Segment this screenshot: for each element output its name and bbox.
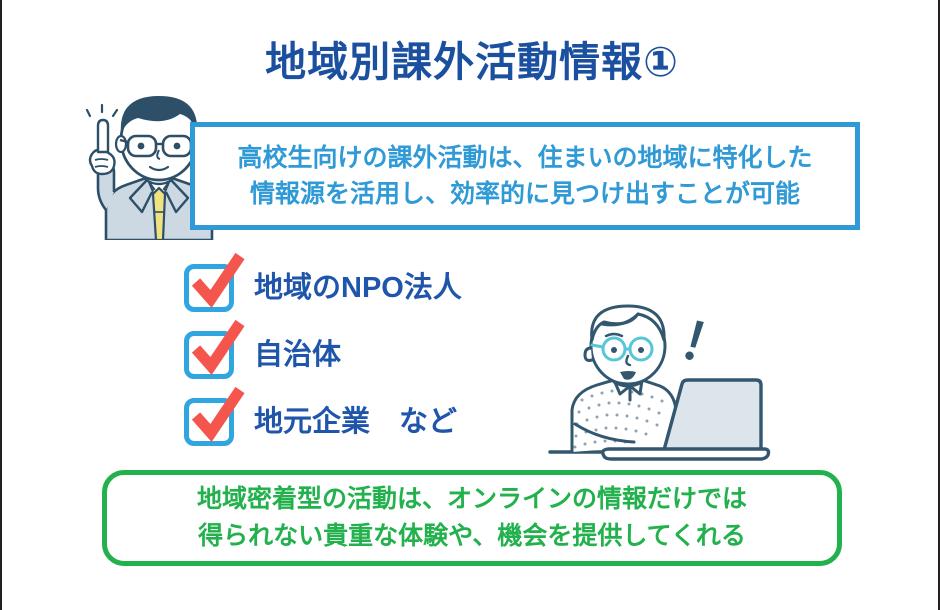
intro-callout-box: 高校生向けの課外活動は、住まいの地域に特化した 情報源を活用し、効率的に見つけ出… bbox=[190, 122, 860, 230]
list-item[interactable]: 地元企業 など bbox=[184, 390, 462, 454]
list-item-label: 地域のNPO法人 bbox=[254, 274, 462, 303]
list-item-label: 自治体 bbox=[254, 341, 341, 370]
checkbox-checked[interactable] bbox=[184, 329, 242, 381]
intro-callout-text: 高校生向けの課外活動は、住まいの地域に特化した 情報源を活用し、効率的に見つけ出… bbox=[237, 140, 812, 213]
slide-canvas: 地域別課外活動情報① bbox=[0, 0, 940, 610]
check-icon bbox=[188, 388, 244, 446]
conclusion-callout-text: 地域密着型の活動は、オンラインの情報だけでは 得られない貴重な体験や、機会を提供… bbox=[197, 481, 747, 556]
list-item-label: 地元企業 など bbox=[254, 408, 457, 437]
list-item[interactable]: 地域のNPO法人 bbox=[184, 256, 462, 320]
list-item[interactable]: 自治体 bbox=[184, 323, 462, 387]
checkbox-checked[interactable] bbox=[184, 262, 242, 314]
conclusion-callout-box: 地域密着型の活動は、オンラインの情報だけでは 得られない貴重な体験や、機会を提供… bbox=[102, 470, 842, 566]
check-icon bbox=[188, 321, 244, 379]
checklist: 地域のNPO法人 自治体 地元企業 など bbox=[184, 256, 462, 457]
student-at-laptop-illustration bbox=[542, 292, 777, 467]
page-title: 地域別課外活動情報① bbox=[2, 40, 940, 85]
checkbox-checked[interactable] bbox=[184, 396, 242, 448]
check-icon bbox=[188, 254, 244, 312]
